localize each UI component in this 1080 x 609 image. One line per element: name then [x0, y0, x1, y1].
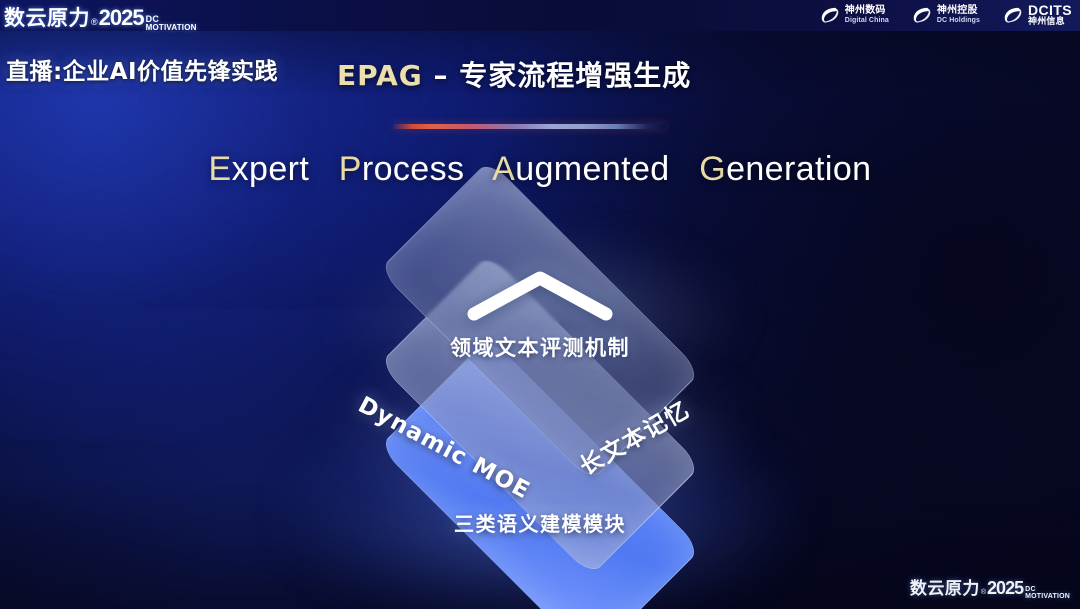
brand-watermark: 数云原力 ® 2025 DC MOTIVATION	[910, 574, 1070, 603]
gradient-divider	[393, 124, 666, 129]
logo-dc-holdings: 神州控股 DC Holdings	[911, 4, 980, 26]
title-separator: –	[423, 59, 460, 92]
logo-name-en: DC Holdings	[937, 17, 980, 24]
logo-name-cn: 神州信息	[1028, 18, 1072, 27]
layer-label-bottom: 三类语义建模模块	[0, 508, 1080, 537]
logo-name-en: DCITS	[1028, 3, 1072, 18]
slide-canvas: 领域文本评测机制 Dynamic MOE 长文本记忆 三类语义建模模块 数云原力…	[0, 0, 1080, 609]
swirl-icon	[1002, 4, 1024, 26]
logo-name-en: Digital China	[845, 17, 889, 24]
swirl-icon	[819, 4, 841, 26]
layer-label-top: 领域文本评测机制	[0, 332, 1080, 362]
logo-name-cn: 神州数码	[845, 6, 889, 17]
brand-logo: 数云原力 ® 2025 DC MOTIVATION	[4, 2, 197, 35]
watermark-motivation: MOTIVATION	[1025, 593, 1070, 600]
watermark-name-cn: 数云原力	[910, 574, 980, 599]
live-stream-subtitle: 直播:企业AI价值先锋实践	[6, 52, 278, 86]
subtitle-word-process: Process	[339, 150, 465, 188]
logo-name-cn: 神州控股	[937, 6, 980, 17]
subtitle-word-expert: Expert	[209, 150, 310, 188]
page-title: EPAG – 专家流程增强生成	[337, 54, 691, 94]
chevron-up-icon	[466, 268, 614, 322]
logo-dcits: DCITS 神州信息	[1002, 3, 1072, 27]
brand-motivation: MOTIVATION	[146, 24, 197, 32]
brand-name-cn: 数云原力	[4, 2, 90, 32]
watermark-year: 2025	[987, 578, 1023, 599]
watermark-dc: DC	[1025, 586, 1070, 593]
title-acronym: EPAG	[337, 59, 423, 92]
logo-digital-china: 神州数码 Digital China	[819, 4, 889, 26]
subtitle-word-generation: Generation	[699, 150, 871, 188]
brand-year: 2025	[99, 5, 144, 31]
corporate-logo-group: 神州数码 Digital China 神州控股 DC Holdings DCIT…	[819, 3, 1072, 27]
swirl-icon	[911, 4, 933, 26]
title-chinese: 专家流程增强生成	[459, 59, 691, 92]
subtitle-word-augmented: Augmented	[492, 150, 670, 188]
brand-registered-mark: ®	[91, 17, 98, 27]
watermark-registered-mark: ®	[981, 589, 986, 596]
subtitle-english: Expert Process Augmented Generation	[0, 150, 1080, 189]
